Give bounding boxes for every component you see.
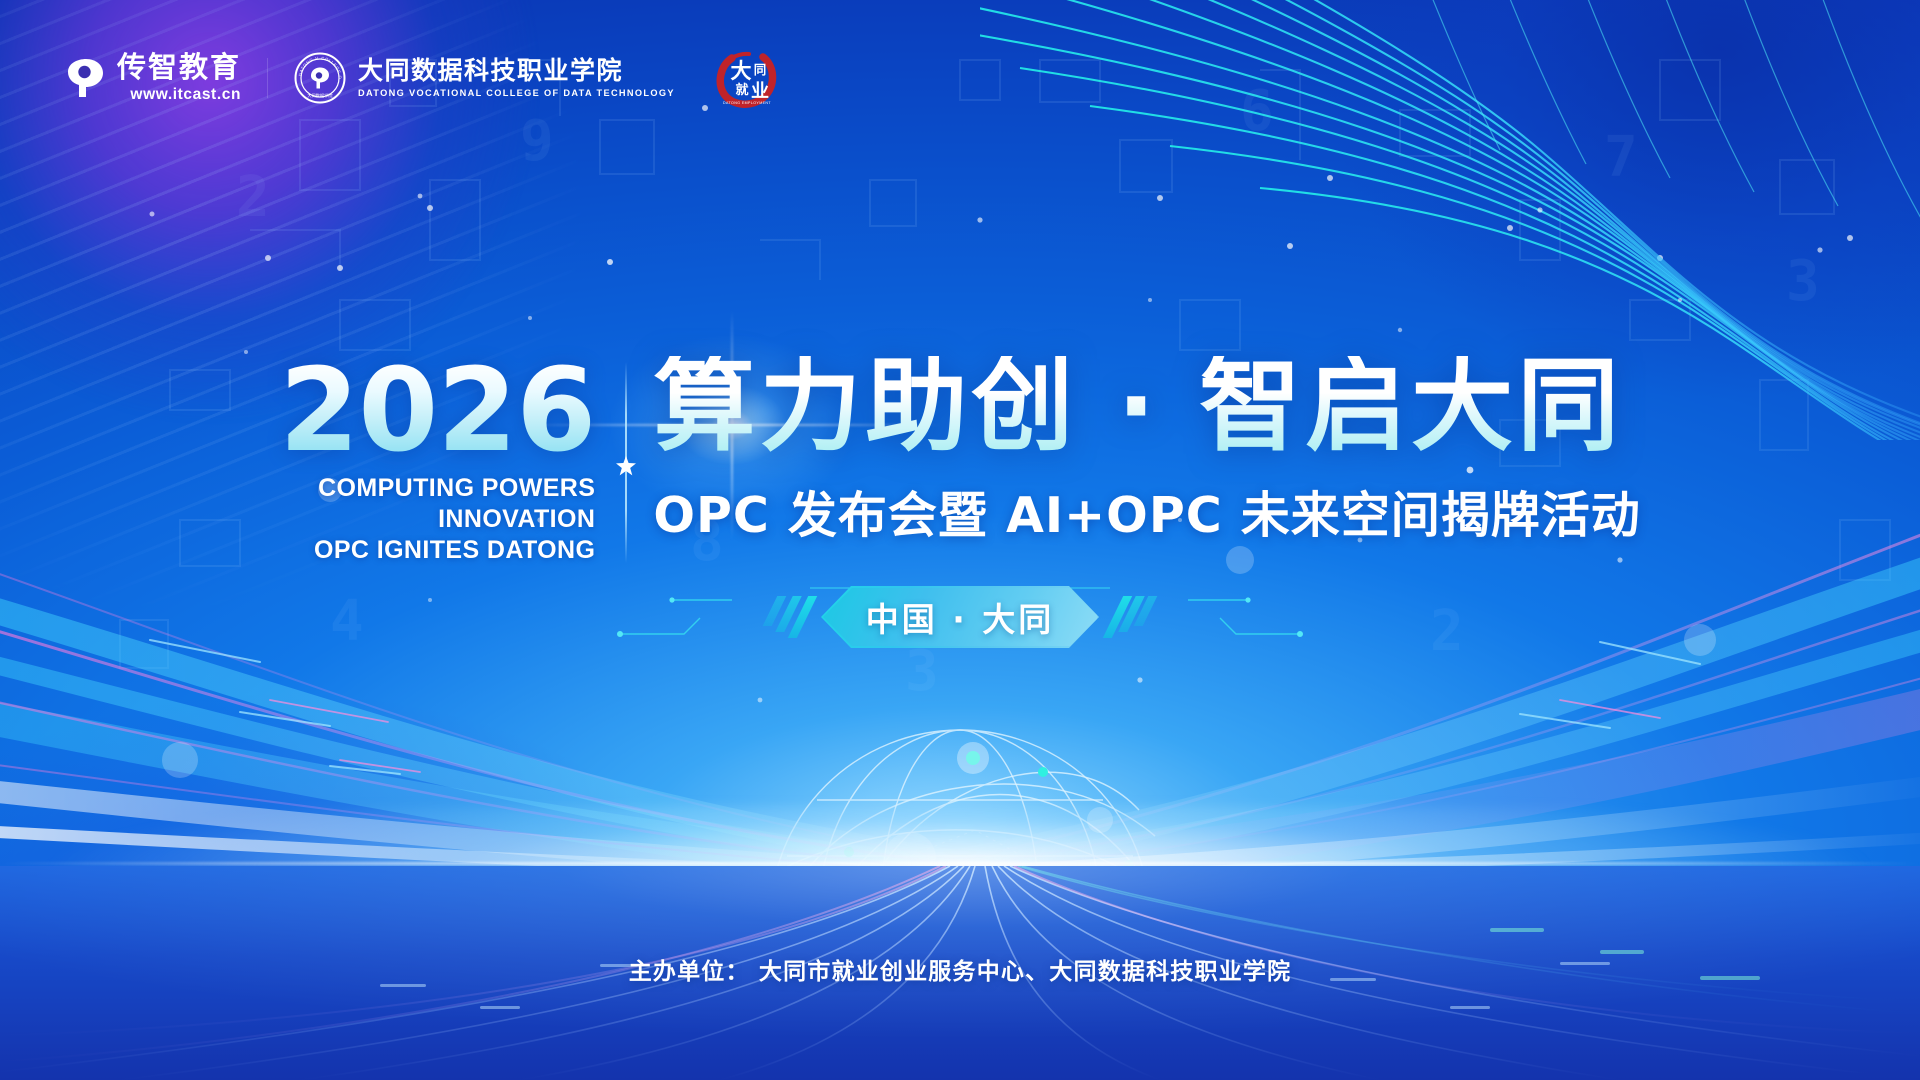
logo-divider — [267, 58, 268, 98]
event-poster: 2 7 3 3 5 6 8 4 2 9 — [0, 0, 1920, 1080]
logo-college-name-en: DATONG VOCATIONAL COLLEGE OF DATA TECHNO… — [358, 89, 675, 98]
itcast-mark-icon — [62, 56, 106, 100]
svg-text:业: 业 — [751, 81, 769, 102]
logo-college-name: 大同数据科技职业学院 — [358, 58, 675, 83]
title-divider — [625, 362, 627, 563]
svg-text:大: 大 — [730, 59, 751, 83]
logo-itcast-url: www.itcast.cn — [117, 87, 241, 103]
svg-text:大同数据学院: 大同数据学院 — [307, 92, 333, 99]
headline-column: 算力助创 · 智启大同 OPC 发布会暨 AI+OPC 未来空间揭牌活动 — [653, 356, 1640, 547]
datong-jiuye-seal-icon[interactable]: 大 同 就 业 DATONG EMPLOYMENT — [713, 44, 781, 112]
page-subtitle: OPC 发布会暨 AI+OPC 未来空间揭牌活动 — [653, 476, 1640, 547]
page-title: 算力助创 · 智启大同 — [653, 356, 1640, 458]
english-line-3: OPC IGNITES DATONG — [314, 535, 595, 566]
logo-itcast[interactable]: 传智教育 www.itcast.cn — [62, 53, 241, 103]
footer: 主办单位： 大同市就业创业服务中心、大同数据科技职业学院 — [0, 952, 1920, 986]
svg-text:就: 就 — [735, 82, 748, 98]
year-label: 2026 — [279, 362, 595, 461]
header-logo-group: 传智教育 www.itcast.cn DATONG VOCATIONAL — [62, 44, 781, 112]
badge-right-chevrons-icon — [1113, 596, 1150, 638]
logo-itcast-name: 传智教育 — [117, 53, 241, 82]
badge-left-chevrons-icon — [770, 596, 807, 638]
location-badge[interactable]: 中国 · 大同 — [821, 586, 1099, 648]
location-badge-label: 中国 · 大同 — [866, 593, 1055, 641]
star-icon — [615, 455, 637, 477]
english-line-2: INNOVATION — [314, 504, 595, 535]
location-badge-wrap: 中国 · 大同 — [0, 586, 1920, 648]
logo-datong-college[interactable]: DATONG VOCATIONAL COLLEGE OF DATA 大同数据学院… — [294, 52, 675, 104]
english-tagline: COMPUTING POWERS INNOVATION OPC IGNITES … — [314, 473, 595, 567]
svg-text:同: 同 — [754, 62, 767, 77]
main-title-block: 2026 COMPUTING POWERS INNOVATION OPC IGN… — [0, 356, 1920, 567]
svg-text:DATONG EMPLOYMENT: DATONG EMPLOYMENT — [723, 101, 771, 105]
organizers-text: 主办单位： 大同市就业创业服务中心、大同数据科技职业学院 — [629, 952, 1292, 986]
college-seal-icon: DATONG VOCATIONAL COLLEGE OF DATA 大同数据学院 — [294, 52, 346, 104]
year-and-english-column: 2026 COMPUTING POWERS INNOVATION OPC IGN… — [279, 356, 595, 567]
